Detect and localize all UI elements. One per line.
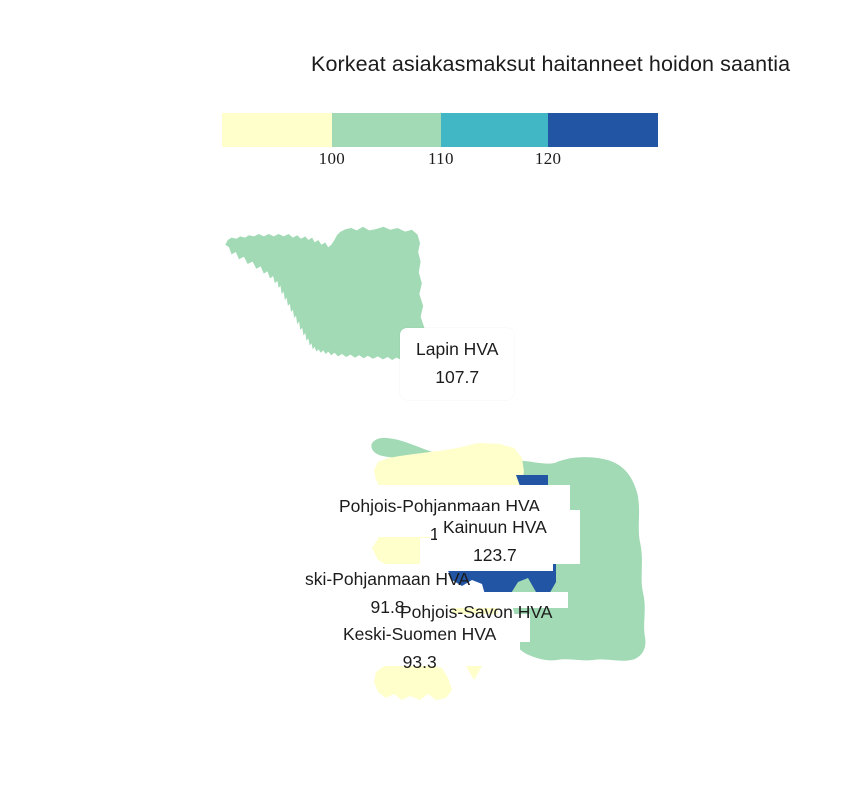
choropleth-map-chart: Korkeat asiakasmaksut haitanneet hoidon …	[0, 0, 864, 792]
label-occluder-7	[330, 614, 530, 642]
page-title: Korkeat asiakasmaksut haitanneet hoidon …	[0, 52, 864, 77]
color-legend: 100 110 120	[222, 113, 658, 147]
legend-band-4	[548, 113, 658, 147]
legend-band-1	[222, 113, 332, 147]
region-keski-suomen-hva[interactable]	[374, 662, 452, 700]
label-occluder-2	[430, 510, 580, 538]
map-canvas	[0, 200, 864, 760]
label-occluder-6	[398, 592, 568, 608]
legend-tick-110: 110	[428, 149, 454, 169]
region-lapin-hva[interactable]	[225, 227, 425, 363]
region-fleck-b[interactable]	[466, 666, 482, 680]
label-occluder-3	[420, 538, 580, 564]
legend-band-2	[332, 113, 441, 147]
legend-band-3	[441, 113, 548, 147]
label-occluder-4	[290, 564, 448, 592]
label-occluder-1	[300, 485, 570, 511]
legend-tick-120: 120	[535, 149, 561, 169]
legend-color-bar	[222, 113, 658, 147]
label-occluder-8	[340, 642, 520, 666]
finland-regions-svg	[0, 200, 864, 760]
legend-tick-100: 100	[319, 149, 345, 169]
legend-tick-labels: 100 110 120	[222, 149, 658, 173]
